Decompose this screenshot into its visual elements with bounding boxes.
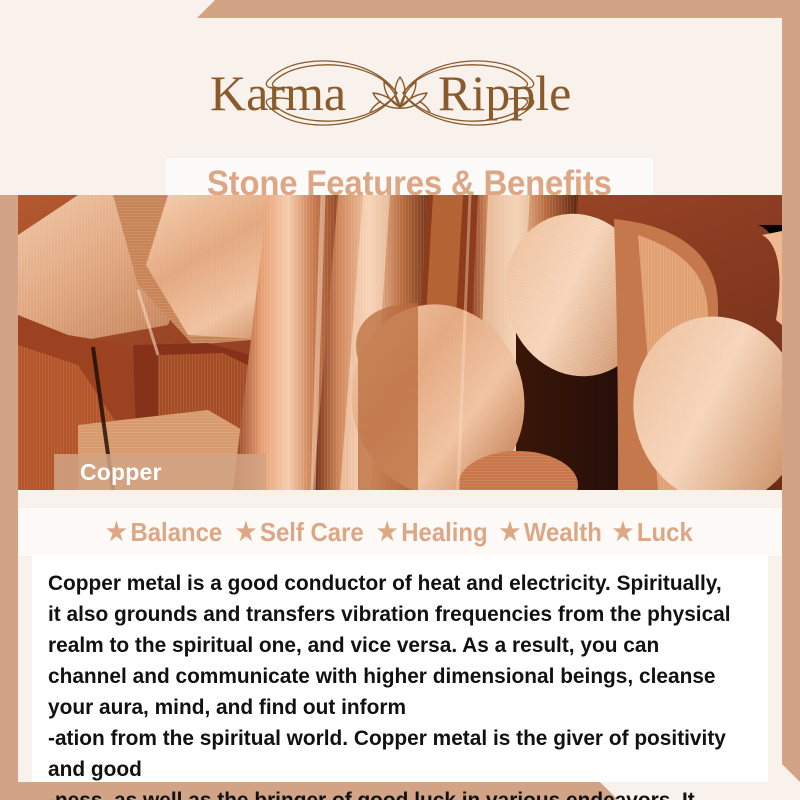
product-info-card: Karma Ripple Stone Features & Benefits: [0, 0, 800, 800]
benefit-item-wealth: ★ Wealth: [500, 517, 605, 548]
benefit-item-healing: ★ Healing: [377, 517, 490, 548]
benefits-row: ★ Balance ★ Self Care ★ Healing ★ Wealth…: [18, 508, 782, 556]
benefit-item-balance: ★ Balance: [106, 517, 225, 548]
frame-band-right: [782, 18, 800, 782]
benefit-label: Luck: [637, 517, 693, 548]
star-icon: ★: [500, 520, 521, 545]
star-icon: ★: [377, 520, 398, 545]
description-panel: Copper metal is a good conductor of heat…: [32, 556, 768, 782]
benefit-label: Self Care: [260, 517, 364, 548]
hero-image: Copper: [18, 195, 782, 490]
benefit-item-self-care: ★ Self Care: [235, 517, 366, 548]
star-icon: ★: [106, 520, 127, 545]
hero-caption-text: Copper: [80, 459, 162, 486]
brand-name-right: Ripple: [438, 65, 571, 121]
star-icon: ★: [613, 520, 634, 545]
frame-band-left: [0, 195, 18, 800]
frame-band-top: [0, 0, 800, 18]
benefit-item-luck: ★ Luck: [613, 517, 696, 548]
benefit-label: Healing: [401, 517, 487, 548]
brand-name-left: Karma: [210, 65, 346, 121]
benefit-label: Balance: [130, 517, 222, 548]
star-icon: ★: [235, 520, 256, 545]
brand-logo-svg: Karma Ripple: [185, 41, 615, 146]
card-inner: Karma Ripple Stone Features & Benefits: [18, 18, 782, 782]
lotus-icon: [370, 77, 430, 113]
description-text: Copper metal is a good conductor of heat…: [48, 568, 731, 800]
benefit-label: Wealth: [524, 517, 602, 548]
brand-logo: Karma Ripple: [18, 38, 782, 148]
copper-bars-illustration: [18, 195, 782, 490]
hero-caption-banner: Copper: [54, 454, 266, 490]
